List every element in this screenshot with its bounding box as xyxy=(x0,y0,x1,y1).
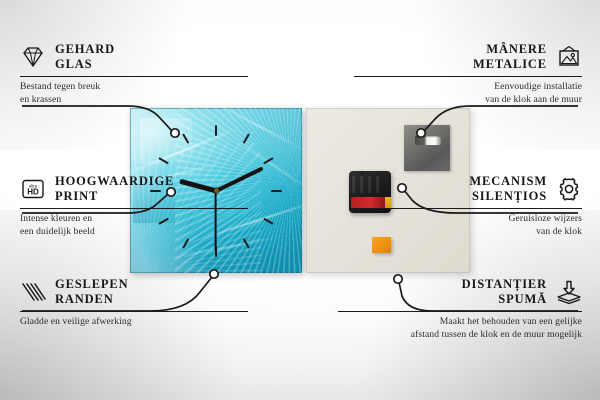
callout-header: MECANISM SILENȚIOS xyxy=(354,174,582,205)
callout-title: MECANISM SILENȚIOS xyxy=(469,174,547,205)
metal-hanger-plate xyxy=(404,125,450,171)
callout-header: MÂNERE METALICE xyxy=(354,42,582,73)
callout-rule xyxy=(354,208,582,210)
ultra-hd-icon: ultra HD xyxy=(20,176,46,202)
callout-header: ultra HD HOOGWAARDIGE PRINT xyxy=(20,174,248,205)
callout-title: DISTANȚIER SPUMĂ xyxy=(462,277,547,308)
diamond-icon xyxy=(20,44,46,70)
callout-title: HOOGWAARDIGE PRINT xyxy=(55,174,174,205)
hanger-slot xyxy=(415,136,442,145)
callout-title: GESLEPEN RANDEN xyxy=(55,277,129,308)
callout-distantier-spuma[interactable]: DISTANȚIER SPUMĂ Maakt het behouden van … xyxy=(338,277,582,342)
callout-hoogwaardige-print[interactable]: ultra HD HOOGWAARDIGE PRINT Intense kleu… xyxy=(20,174,248,239)
callout-description: Maakt het behouden van een gelijke afsta… xyxy=(338,316,582,342)
infographic-canvas: GEHARD GLAS Bestand tegen breuk en krass… xyxy=(0,0,600,400)
arrow-down-stack-icon xyxy=(556,279,582,305)
callout-description: Bestand tegen breuk en krassen xyxy=(20,81,248,107)
gear-icon xyxy=(556,176,582,202)
svg-text:HD: HD xyxy=(27,188,39,197)
callout-geslepen-randen[interactable]: GESLEPEN RANDEN Gladde en veilige afwerk… xyxy=(20,277,248,329)
foam-spacer xyxy=(372,237,391,253)
callout-title: MÂNERE METALICE xyxy=(473,42,547,73)
callout-title: GEHARD GLAS xyxy=(55,42,115,73)
callout-description: Intense kleuren en een duidelijk beeld xyxy=(20,213,248,239)
callout-rule xyxy=(338,311,582,313)
callout-header: GEHARD GLAS xyxy=(20,42,248,73)
callout-manere-metalice[interactable]: MÂNERE METALICE Eenvoudige installatie v… xyxy=(354,42,582,107)
beveled-edges-icon xyxy=(20,279,46,305)
callout-description: Geruisloze wijzers van de klok xyxy=(354,213,582,239)
callout-rule xyxy=(20,76,248,78)
callout-header: GESLEPEN RANDEN xyxy=(20,277,248,308)
callout-description: Gladde en veilige afwerking xyxy=(20,316,248,329)
callout-rule xyxy=(354,76,582,78)
callout-header: DISTANȚIER SPUMĂ xyxy=(338,277,582,308)
callout-description: Eenvoudige installatie van de klok aan d… xyxy=(354,81,582,107)
picture-frame-hanging-icon xyxy=(556,44,582,70)
callout-mecanism-silentios[interactable]: MECANISM SILENȚIOS Geruisloze wijzers va… xyxy=(354,174,582,239)
callout-gehard-glas[interactable]: GEHARD GLAS Bestand tegen breuk en krass… xyxy=(20,42,248,107)
callout-rule xyxy=(20,208,248,210)
callout-rule xyxy=(20,311,248,313)
